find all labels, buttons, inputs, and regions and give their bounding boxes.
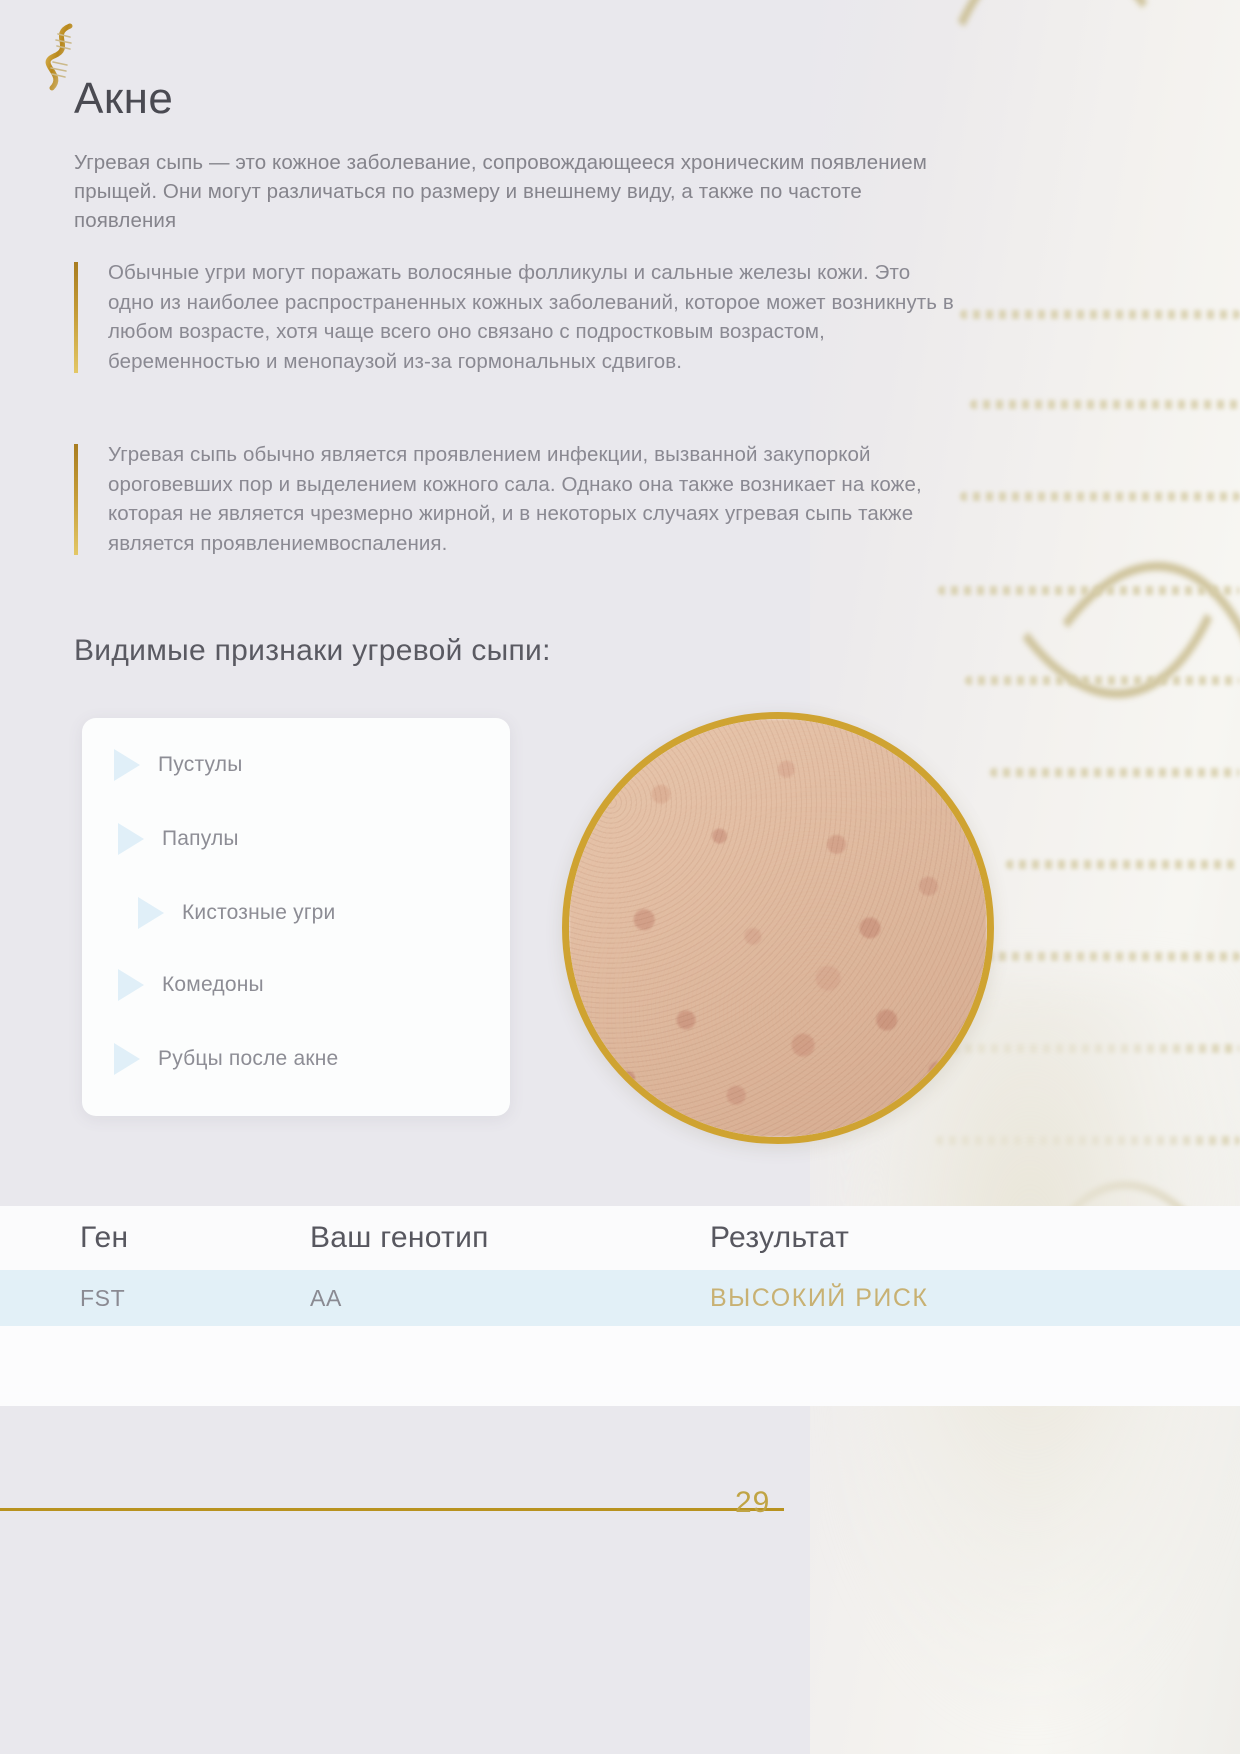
callout-quote-2: Угревая сыпь обычно является проявлением… [74,440,954,559]
intro-paragraph: Угревая сыпь — это кожное заболевание, с… [74,148,954,235]
gene-results-table: Ген Ваш генотип Результат FST AA ВЫСОКИЙ… [0,1206,1240,1382]
triangle-right-icon [114,749,140,781]
footer-divider [0,1508,784,1511]
list-item: Рубцы после акне [114,1044,338,1074]
report-page: Акне Угревая сыпь — это кожное заболеван… [0,0,1240,1754]
visible-signs-card: Пустулы Папулы Кистозные угри Комедоны Р… [82,718,510,1116]
section-heading-signs: Видимые признаки угревой сыпи: [74,634,551,668]
list-item: Папулы [114,824,239,854]
list-item-label: Папулы [162,827,239,851]
column-header-genotype: Ваш генотип [310,1221,710,1255]
list-item-label: Кистозные угри [182,901,336,925]
list-item: Кистозные угри [114,898,336,928]
table-header-row: Ген Ваш генотип Результат [0,1206,1240,1270]
table-row: FST AA ВЫСОКИЙ РИСК [0,1270,1240,1326]
list-item-label: Рубцы после акне [158,1047,338,1071]
list-item-label: Пустулы [158,753,243,777]
list-item: Комедоны [114,970,264,1000]
triangle-right-icon [138,897,164,929]
cell-genotype: AA [310,1285,710,1312]
triangle-right-icon [118,823,144,855]
triangle-right-icon [114,1043,140,1075]
triangle-right-icon [118,969,144,1001]
photo-grain-layer [569,719,987,1137]
callout-quote-1: Обычные угри могут поражать волосяные фо… [74,258,954,377]
table-footer-spacer [0,1326,1240,1382]
column-header-gene: Ген [0,1221,310,1255]
page-title: Акне [74,74,173,124]
list-item: Пустулы [114,750,243,780]
status-badge: ВЫСОКИЙ РИСК [710,1284,1240,1313]
acne-skin-closeup-photo [562,712,994,1144]
page-number: 29 [735,1486,770,1520]
list-item-label: Комедоны [162,973,264,997]
cell-gene: FST [0,1285,310,1312]
column-header-result: Результат [710,1221,1240,1255]
